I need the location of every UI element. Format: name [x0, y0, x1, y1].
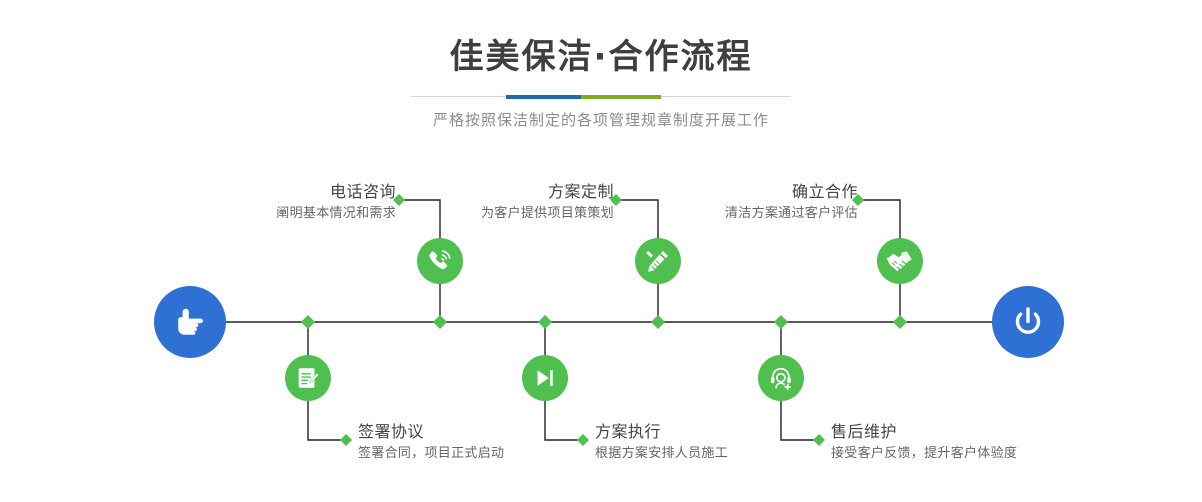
axis-diamond-6 — [774, 315, 788, 329]
timeline-start-node[interactable] — [154, 286, 226, 358]
divider-segment-blue — [506, 95, 581, 99]
document-edit-icon — [295, 365, 321, 391]
title-divider — [411, 95, 791, 99]
step-label-4: 方案执行 根据方案安排人员施工 — [595, 422, 728, 464]
step-desc-6: 接受客户反馈，提升客户体验度 — [831, 444, 1017, 464]
axis-diamond-2 — [301, 315, 315, 329]
phone-ring-icon — [427, 248, 453, 274]
step-label-1: 电话咨询 阐明基本情况和需求 — [276, 182, 396, 224]
timeline-end-node[interactable] — [992, 286, 1064, 358]
pencil-ruler-icon — [645, 248, 671, 274]
infographic-page: 佳美保洁·合作流程 严格按照保洁制定的各项管理规章制度开展工作 — [0, 0, 1202, 502]
page-title: 佳美保洁·合作流程 — [0, 0, 1202, 79]
step-desc-2: 签署合同，项目正式启动 — [358, 444, 504, 464]
pointing-hand-icon — [170, 302, 210, 342]
page-subtitle: 严格按照保洁制定的各项管理规章制度开展工作 — [0, 99, 1202, 130]
step-title-6: 售后维护 — [831, 422, 1017, 442]
axis-diamond-4 — [538, 315, 552, 329]
step-title-5: 确立合作 — [725, 182, 858, 202]
axis-diamond-3 — [651, 315, 665, 329]
process-timeline: 电话咨询 阐明基本情况和需求 方案定制 为客户提供项目策策划 确立 — [0, 160, 1202, 502]
step-label-3: 方案定制 为客户提供项目策策划 — [481, 182, 614, 224]
step-title-3: 方案定制 — [481, 182, 614, 202]
power-icon — [1008, 302, 1048, 342]
label-diamond-6 — [813, 434, 825, 446]
step-label-2: 签署协议 签署合同，项目正式启动 — [358, 422, 504, 464]
step-desc-5: 清洁方案通过客户评估 — [725, 204, 858, 224]
step-label-5: 确立合作 清洁方案通过客户评估 — [725, 182, 858, 224]
header: 佳美保洁·合作流程 严格按照保洁制定的各项管理规章制度开展工作 — [0, 0, 1202, 130]
axis-diamond-5 — [893, 315, 907, 329]
handshake-icon — [886, 247, 914, 275]
label-diamond-4 — [577, 434, 589, 446]
step-icon-5[interactable] — [877, 238, 923, 284]
step-icon-1[interactable] — [417, 238, 463, 284]
step-title-2: 签署协议 — [358, 422, 504, 442]
axis-diamond-1 — [433, 315, 447, 329]
step-icon-3[interactable] — [635, 238, 681, 284]
step-desc-4: 根据方案安排人员施工 — [595, 444, 728, 464]
step-desc-3: 为客户提供项目策策划 — [481, 204, 614, 224]
step-icon-4[interactable] — [522, 355, 568, 401]
step-icon-6[interactable] — [758, 355, 804, 401]
step-desc-1: 阐明基本情况和需求 — [276, 204, 396, 224]
step-label-6: 售后维护 接受客户反馈，提升客户体验度 — [831, 422, 1017, 464]
step-title-1: 电话咨询 — [276, 182, 396, 202]
label-diamond-2 — [340, 434, 352, 446]
divider-segment-green — [581, 95, 661, 99]
step-icon-2[interactable] — [285, 355, 331, 401]
customer-service-icon — [768, 365, 795, 392]
step-title-4: 方案执行 — [595, 422, 728, 442]
play-execute-icon — [532, 365, 558, 391]
